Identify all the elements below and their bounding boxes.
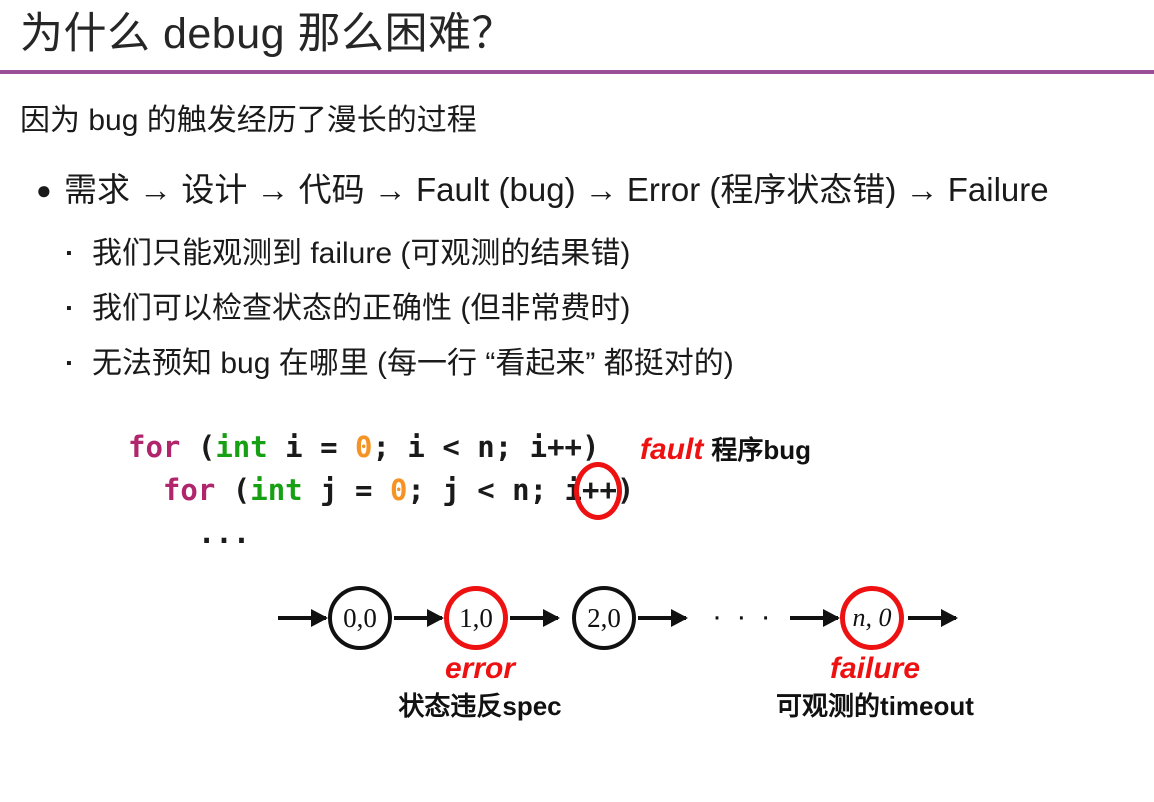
bullet-level2-unknown-bug: ▪无法预知 bug 在哪里 (每一行 “看起来” 都挺对的): [66, 344, 734, 384]
caption-error: error 状态违反spec: [390, 650, 570, 724]
code-text: i =: [268, 430, 355, 464]
arrow-1-to-2: [510, 616, 558, 620]
annotation-fault: fault程序bug: [640, 430, 811, 470]
code-keyword-for: for: [128, 430, 180, 464]
caption-error-note: 状态违反spec: [390, 688, 570, 724]
annotation-fault-tag: fault: [640, 433, 703, 466]
code-punct: (: [215, 473, 250, 507]
arrow-2-outgoing: [638, 616, 686, 620]
title-divider: [0, 70, 1154, 74]
bullet-level2-label: 无法预知 bug 在哪里 (每一行 “看起来” 都挺对的): [92, 347, 734, 380]
code-ellipsis: ...: [128, 516, 250, 550]
highlight-ellipse-icon: [574, 462, 622, 520]
annotation-fault-note: 程序bug: [711, 435, 811, 465]
code-punct: (: [180, 430, 215, 464]
page-title: 为什么 debug 那么困难？: [20, 6, 515, 62]
code-type-int: int: [215, 430, 267, 464]
state-diagram: 0,0 1,0 2,0 · · · n, 0 error 状态违反spec fa…: [0, 570, 1154, 680]
code-text: j =: [303, 473, 390, 507]
state-node-n: n, 0: [840, 586, 904, 650]
code-number-zero: 0: [355, 430, 372, 464]
arrow-incoming-0: [278, 616, 326, 620]
bullet-marker-square: ▪: [66, 234, 92, 274]
bullet-marker-dot: ●: [36, 168, 64, 212]
state-node-2: 2,0: [572, 586, 636, 650]
state-node-label: 2,0: [587, 603, 621, 634]
caption-failure-tag: failure: [775, 650, 975, 688]
code-indent: [128, 473, 163, 507]
state-node-label: 0,0: [343, 603, 377, 634]
bullet-level2-label: 我们可以检查状态的正确性 (但非常费时): [92, 292, 630, 325]
arrow-incoming-n: [790, 616, 838, 620]
bullet-level2-check-state: ▪我们可以检查状态的正确性 (但非常费时): [66, 289, 630, 329]
arrow-n-outgoing: [908, 616, 956, 620]
bullet-level2-observe-failure: ▪我们只能观测到 failure (可观测的结果错): [66, 234, 630, 274]
arrow-0-to-1: [394, 616, 442, 620]
state-node-label: n, 0: [853, 603, 892, 633]
lead-text: 因为 bug 的触发经历了漫长的过程: [20, 100, 477, 142]
caption-failure-note: 可观测的timeout: [775, 688, 975, 724]
bullet-marker-square: ▪: [66, 344, 92, 384]
bullet-level1-label: 需求 → 设计 → 代码 → Fault (bug) → Error (程序状态…: [64, 171, 1049, 208]
bullet-level2-label: 我们只能观测到 failure (可观测的结果错): [92, 237, 630, 270]
caption-failure: failure 可观测的timeout: [775, 650, 975, 724]
code-text: ; i < n; i++): [372, 430, 599, 464]
state-node-0: 0,0: [328, 586, 392, 650]
code-number-zero: 0: [390, 473, 407, 507]
bullet-marker-square: ▪: [66, 289, 92, 329]
diagram-ellipsis: · · ·: [712, 600, 774, 634]
state-node-label: 1,0: [459, 603, 493, 634]
code-type-int: int: [250, 473, 302, 507]
state-node-1: 1,0: [444, 586, 508, 650]
code-snippet: for (int i = 0; i < n; i++) for (int j =…: [128, 426, 634, 555]
code-keyword-for: for: [163, 473, 215, 507]
caption-error-tag: error: [390, 650, 570, 688]
bullet-level1: ●需求 → 设计 → 代码 → Fault (bug) → Error (程序状…: [36, 168, 1049, 212]
